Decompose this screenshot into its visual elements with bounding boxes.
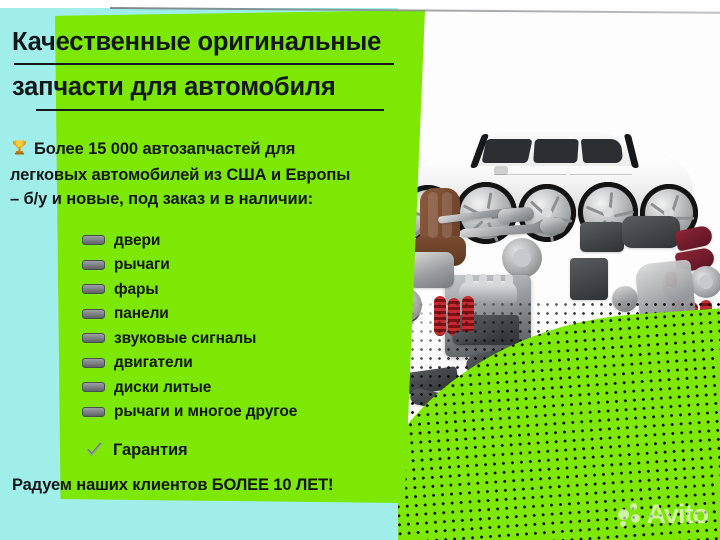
list-item: диски литые — [82, 375, 402, 400]
lead-paragraph: Более 15 000 автозапчастей для легковых … — [10, 138, 420, 211]
ecu-box-icon — [580, 222, 624, 252]
heavy-minus-sign-icon — [82, 309, 105, 319]
car-window-front — [481, 139, 532, 163]
car-window-mid — [533, 139, 579, 163]
list-item: рычаги — [82, 253, 402, 278]
banner-canvas: Avito Качественные оригинальные запчасти… — [0, 0, 720, 540]
car-door-seam — [494, 174, 566, 175]
lead-line-3: – б/у и новые, под заказ и в наличии: — [10, 190, 313, 208]
car-window-rear — [581, 139, 624, 163]
trophy-icon — [10, 138, 29, 164]
heavy-minus-sign-icon — [82, 382, 105, 392]
headline-rule-1 — [14, 63, 394, 66]
heavy-minus-sign-icon — [82, 333, 105, 343]
steering-wheel-icon — [502, 238, 542, 278]
list-item: двигатели — [82, 351, 402, 376]
list-item: панели — [82, 302, 402, 327]
auto-parts-photo: Avito — [390, 0, 720, 540]
headline-block: Качественные оригинальные запчасти для а… — [12, 30, 412, 111]
fuel-tank-icon — [622, 216, 680, 248]
list-item-label: диски литые — [114, 380, 211, 396]
list-item-label: рычаги — [114, 257, 170, 273]
list-item-label: звуковые сигналы — [114, 331, 256, 347]
avito-dots-icon — [618, 503, 642, 527]
heavy-minus-sign-icon — [82, 358, 105, 368]
heavy-minus-sign-icon — [82, 260, 105, 270]
wheel-hub — [542, 208, 551, 217]
wheel-hub — [603, 207, 613, 217]
list-item: звуковые сигналы — [82, 326, 402, 351]
avito-watermark: Avito — [618, 501, 709, 528]
list-item-label: двигатели — [114, 355, 193, 371]
list-item-label: рычаги и многое другое — [114, 404, 297, 420]
list-item: двери — [82, 228, 402, 253]
guarantee-label: Гарантия — [113, 441, 188, 460]
muffler-icon — [540, 218, 566, 234]
guarantee-row: Гарантия — [84, 440, 188, 461]
list-item: фары — [82, 277, 402, 302]
list-item-label: панели — [114, 306, 169, 322]
avito-wordmark: Avito — [647, 501, 709, 528]
parts-list: двери рычаги фары панели звуковые сигнал… — [82, 228, 402, 424]
list-item: рычаги и многое другое — [82, 400, 402, 425]
banner-content: Качественные оригинальные запчасти для а… — [0, 0, 430, 540]
air-filter-box-icon — [570, 258, 608, 300]
headline-line-2: запчасти для автомобиля — [12, 75, 412, 101]
check-mark-icon — [84, 440, 105, 461]
list-item-label: двери — [114, 233, 160, 249]
brake-disc-icon — [690, 266, 720, 298]
car-door-seam — [570, 174, 632, 175]
headline-rule-2 — [36, 109, 384, 112]
heavy-minus-sign-icon — [82, 284, 105, 294]
tagline-text: Радуем наших клиентов БОЛЕЕ 10 ЛЕТ! — [12, 476, 333, 495]
heavy-minus-sign-icon — [82, 235, 105, 245]
headline-line-1: Качественные оригинальные — [12, 30, 412, 56]
list-item-label: фары — [114, 282, 159, 298]
lead-line-1: Более 15 000 автозапчастей для — [34, 140, 295, 158]
lead-line-2: легковых автомобилей из США и Европы — [10, 166, 350, 184]
top-white-band — [0, 0, 720, 8]
heavy-minus-sign-icon — [82, 407, 105, 417]
